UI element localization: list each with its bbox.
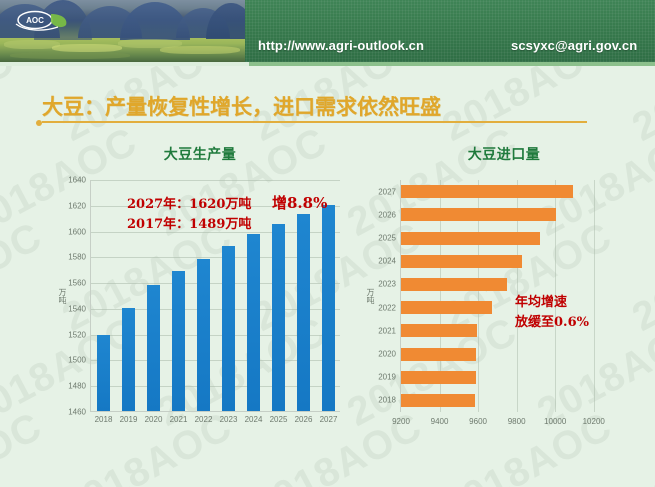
page-banner: AOC http://www.agri-outlook.cn scsyxc@ag… xyxy=(0,0,655,62)
x-axis-tick-label: 10000 xyxy=(544,417,566,426)
svg-text:AOC: AOC xyxy=(26,16,44,25)
x-axis-tick-label: 2021 xyxy=(170,415,188,424)
y-axis-tick-label: 1580 xyxy=(68,253,86,262)
x-axis-tick-label: 2023 xyxy=(220,415,238,424)
annotation-import-line1: 年均增速 xyxy=(515,291,567,310)
x-axis-tick-label: 2018 xyxy=(95,415,113,424)
x-axis-tick-label: 9600 xyxy=(469,417,487,426)
gridline xyxy=(594,180,595,412)
title-underline xyxy=(42,121,587,123)
y-axis-tick-label: 2025 xyxy=(378,234,396,243)
import-y-axis-label: 万吨 xyxy=(365,288,376,304)
annotation-import-line2: 放缓至0.6% xyxy=(515,311,589,330)
production-bar xyxy=(297,214,310,411)
production-bar xyxy=(197,259,210,411)
y-axis-tick-label: 1520 xyxy=(68,330,86,339)
production-bar xyxy=(322,205,335,411)
y-axis-tick-label: 2020 xyxy=(378,350,396,359)
y-axis-tick-label: 2021 xyxy=(378,326,396,335)
x-axis-tick-label: 9800 xyxy=(508,417,526,426)
annotation-production-2027: 2027年：1620万吨 xyxy=(127,193,251,212)
production-bar xyxy=(122,308,135,411)
production-y-axis-label: 万吨 xyxy=(57,288,68,304)
x-axis-tick-label: 2026 xyxy=(295,415,313,424)
import-bar xyxy=(401,185,573,198)
import-bar xyxy=(401,394,475,407)
y-axis-tick-label: 2022 xyxy=(378,303,396,312)
production-bar xyxy=(97,335,110,411)
y-axis-tick-label: 1500 xyxy=(68,356,86,365)
import-bar xyxy=(401,371,476,384)
import-chart-title: 大豆进口量 xyxy=(358,144,650,170)
production-bar xyxy=(147,285,160,411)
x-axis-tick-label: 2025 xyxy=(270,415,288,424)
x-axis-tick-label: 2019 xyxy=(120,415,138,424)
slide-title-block: 大豆：产量恢复性增长，进口需求依然旺盛 xyxy=(42,96,617,123)
x-axis-tick-label: 2024 xyxy=(245,415,263,424)
title-bullet-dot xyxy=(36,120,42,126)
import-bar xyxy=(401,208,556,221)
annotation-growth-rate: 增8.8% xyxy=(272,192,327,213)
y-axis-tick-label: 1560 xyxy=(68,279,86,288)
y-axis-tick-label: 2027 xyxy=(378,187,396,196)
import-chart: 大豆进口量 万吨 9200940096009800100001020020182… xyxy=(358,144,650,434)
production-bar xyxy=(247,234,260,411)
gridline xyxy=(91,180,340,181)
x-axis-tick-label: 2022 xyxy=(195,415,213,424)
y-axis-tick-label: 1600 xyxy=(68,227,86,236)
production-chart: 大豆生产量 万吨 1460148015001520154015601580160… xyxy=(50,144,350,434)
annotation-production-2017: 2017年：1489万吨 xyxy=(127,213,251,232)
import-plot-area: 万吨 9200940096009800100001020020182019202… xyxy=(400,180,612,412)
y-axis-tick-label: 1620 xyxy=(68,201,86,210)
y-axis-tick-label: 2019 xyxy=(378,373,396,382)
banner-website-url[interactable]: http://www.agri-outlook.cn xyxy=(258,38,424,53)
x-axis-tick-label: 2027 xyxy=(320,415,338,424)
y-axis-tick-label: 1540 xyxy=(68,304,86,313)
y-axis-tick-label: 2026 xyxy=(378,210,396,219)
x-axis-tick-label: 2020 xyxy=(145,415,163,424)
banner-underline xyxy=(0,62,655,66)
production-bar xyxy=(222,246,235,411)
banner-email-address[interactable]: scsyxc@agri.gov.cn xyxy=(511,38,637,53)
import-bar xyxy=(401,232,540,245)
import-bar xyxy=(401,255,522,268)
production-bar xyxy=(172,271,185,411)
production-chart-title: 大豆生产量 xyxy=(50,144,350,170)
import-bar xyxy=(401,301,492,314)
x-axis-tick-label: 10200 xyxy=(583,417,605,426)
import-bar xyxy=(401,278,507,291)
page-title: 大豆：产量恢复性增长，进口需求依然旺盛 xyxy=(42,96,617,118)
y-axis-tick-label: 1640 xyxy=(68,176,86,185)
y-axis-tick-label: 1480 xyxy=(68,382,86,391)
y-axis-tick-label: 1460 xyxy=(68,408,86,417)
x-axis-tick-label: 9200 xyxy=(392,417,410,426)
y-axis-tick-label: 2023 xyxy=(378,280,396,289)
import-bar xyxy=(401,348,476,361)
watermark-text: 2018AOC xyxy=(0,214,50,341)
x-axis-tick-label: 9400 xyxy=(431,417,449,426)
y-axis-tick-label: 2024 xyxy=(378,257,396,266)
import-bar xyxy=(401,324,477,337)
aoc-logo-icon: AOC xyxy=(12,9,74,34)
production-bar xyxy=(272,224,285,411)
watermark-text: 2018AOC xyxy=(0,404,50,487)
y-axis-tick-label: 2018 xyxy=(378,396,396,405)
